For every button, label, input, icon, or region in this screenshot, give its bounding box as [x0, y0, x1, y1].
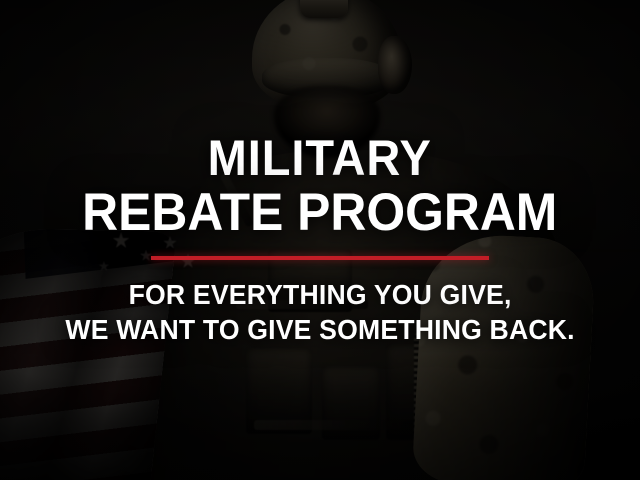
subheadline: FOR EVERYTHING YOU GIVE, WE WANT TO GIVE…	[65, 279, 574, 346]
headline: MILITARY REBATE PROGRAM	[82, 134, 557, 239]
red-divider-rule	[151, 256, 489, 260]
headline-line-2: REBATE PROGRAM	[82, 188, 557, 239]
subheadline-line-2: WE WANT TO GIVE SOMETHING BACK.	[65, 314, 574, 346]
text-overlay: MILITARY REBATE PROGRAM FOR EVERYTHING Y…	[0, 0, 640, 480]
subheadline-line-1: FOR EVERYTHING YOU GIVE,	[65, 279, 574, 311]
headline-line-1: MILITARY	[82, 134, 557, 182]
military-rebate-poster: ★ ★ ★ ★ ★ MILITARY REBATE PROGRAM FOR EV…	[0, 0, 640, 480]
